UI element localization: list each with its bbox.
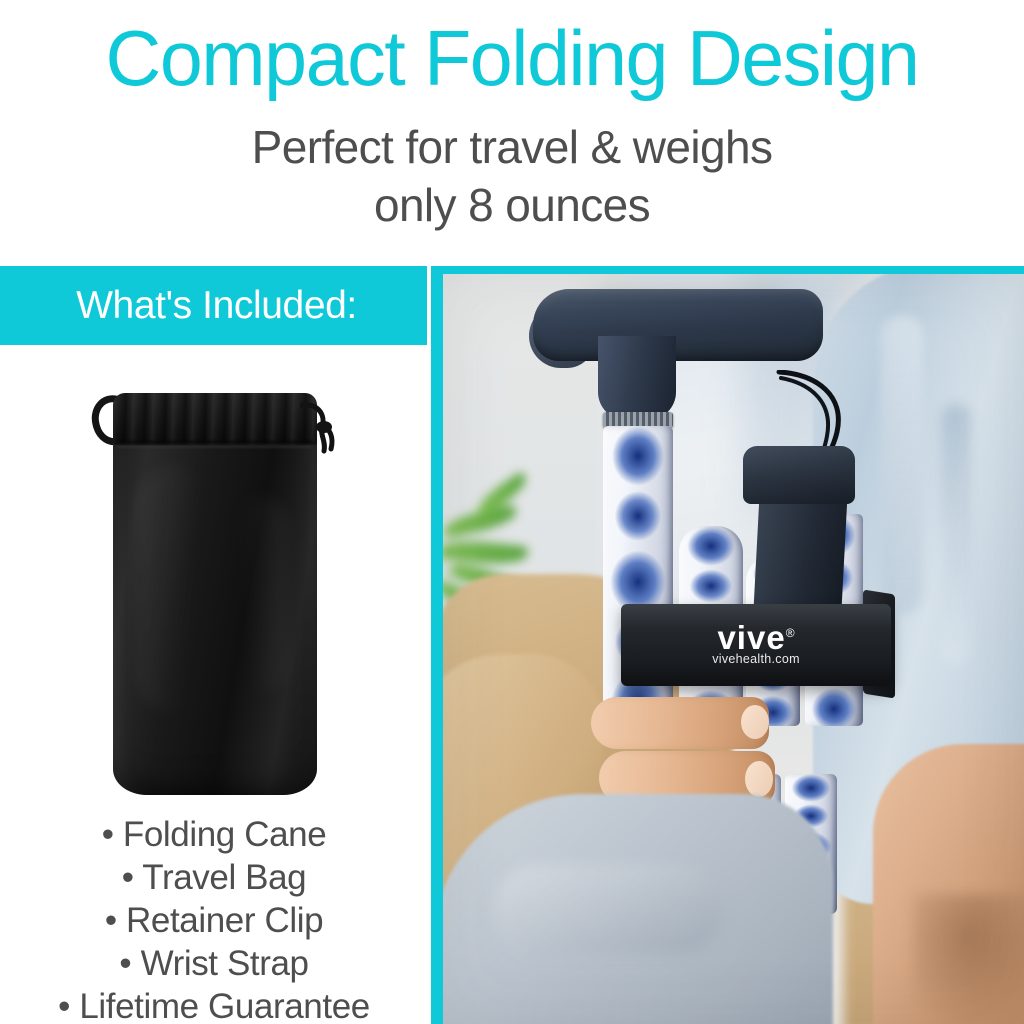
- bag-drawstring-icon: [300, 401, 334, 447]
- subtitle-line-2: only 8 ounces: [0, 176, 1024, 234]
- page-title: Compact Folding Design: [5, 12, 1019, 104]
- page-subtitle: Perfect for travel & weighs only 8 ounce…: [0, 118, 1024, 234]
- bag-cinched-top: [113, 393, 317, 445]
- shirt-fold-1: [881, 314, 923, 614]
- travel-bag-image: [0, 345, 431, 815]
- shirt-fold-2: [941, 404, 971, 664]
- vive-logo: vive®: [621, 616, 891, 655]
- cane-handle: [533, 289, 823, 361]
- included-panel: • Folding Cane • Travel Bag • Retainer C…: [0, 345, 431, 1024]
- list-item: • Wrist Strap: [0, 942, 428, 985]
- header-section: Compact Folding Design Perfect for trave…: [0, 0, 1024, 266]
- lap-fold: [493, 864, 723, 954]
- registered-mark: ®: [786, 626, 795, 640]
- list-item: • Travel Bag: [0, 856, 428, 899]
- forearm-shading: [913, 894, 1024, 1024]
- whats-included-banner: What's Included:: [0, 266, 427, 345]
- product-infographic: Compact Folding Design Perfect for trave…: [0, 0, 1024, 1024]
- list-item: • Retainer Clip: [0, 899, 428, 942]
- cyan-divider: [431, 266, 443, 1024]
- bag-cinch-seam: [116, 441, 314, 448]
- list-item: • Folding Cane: [0, 813, 428, 856]
- cane-handle-neck: [598, 336, 676, 420]
- vive-logo-text: vive: [717, 619, 785, 656]
- bag-highlight-right: [232, 495, 288, 695]
- bag-highlight-left: [136, 465, 214, 715]
- vive-logo-url: vivehealth.com: [621, 652, 891, 666]
- product-photo-frame: vive® vivehealth.com: [431, 266, 1024, 1024]
- cane-rubber-tip-cap: [743, 446, 855, 504]
- product-photo: vive® vivehealth.com: [443, 274, 1024, 1024]
- included-items-list: • Folding Cane • Travel Bag • Retainer C…: [0, 813, 428, 1024]
- subtitle-line-1: Perfect for travel & weighs: [0, 118, 1024, 176]
- list-item: • Lifetime Guarantee: [0, 985, 428, 1024]
